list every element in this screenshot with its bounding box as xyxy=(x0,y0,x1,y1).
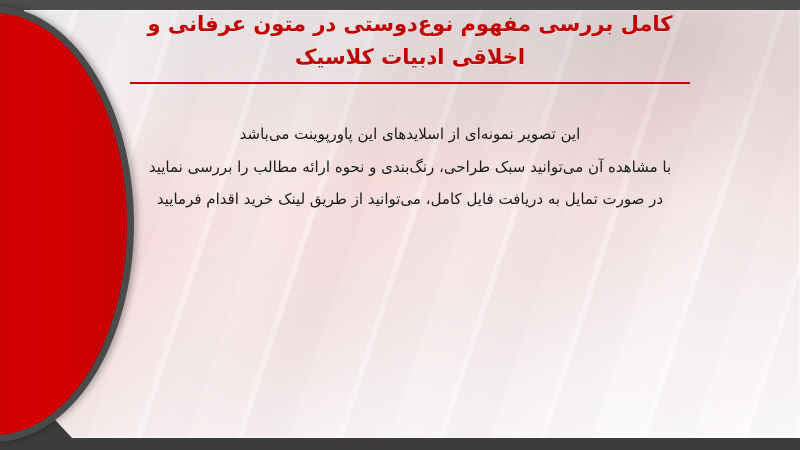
title-line-2: اخلاقی ادبیات کلاسیک xyxy=(295,45,525,69)
page-title: کامل بررسی مفهوم نوع‌دوستی در متون عرفان… xyxy=(60,8,760,73)
slide-title-block: کامل بررسی مفهوم نوع‌دوستی در متون عرفان… xyxy=(60,8,760,84)
body-line-1: این تصویر نمونه‌ای از اسلایدهای این پاور… xyxy=(80,118,740,151)
body-line-3: در صورت تمایل به دریافت فایل کامل، می‌تو… xyxy=(80,183,740,216)
slide-body-text: این تصویر نمونه‌ای از اسلایدهای این پاور… xyxy=(80,118,740,216)
title-underline-rule xyxy=(130,82,690,84)
title-line-1: کامل بررسی مفهوم نوع‌دوستی در متون عرفان… xyxy=(148,12,673,36)
body-line-2: با مشاهده آن می‌توانید سبک طراحی، رنگ‌بن… xyxy=(80,151,740,184)
presentation-slide: کامل بررسی مفهوم نوع‌دوستی در متون عرفان… xyxy=(0,0,800,450)
